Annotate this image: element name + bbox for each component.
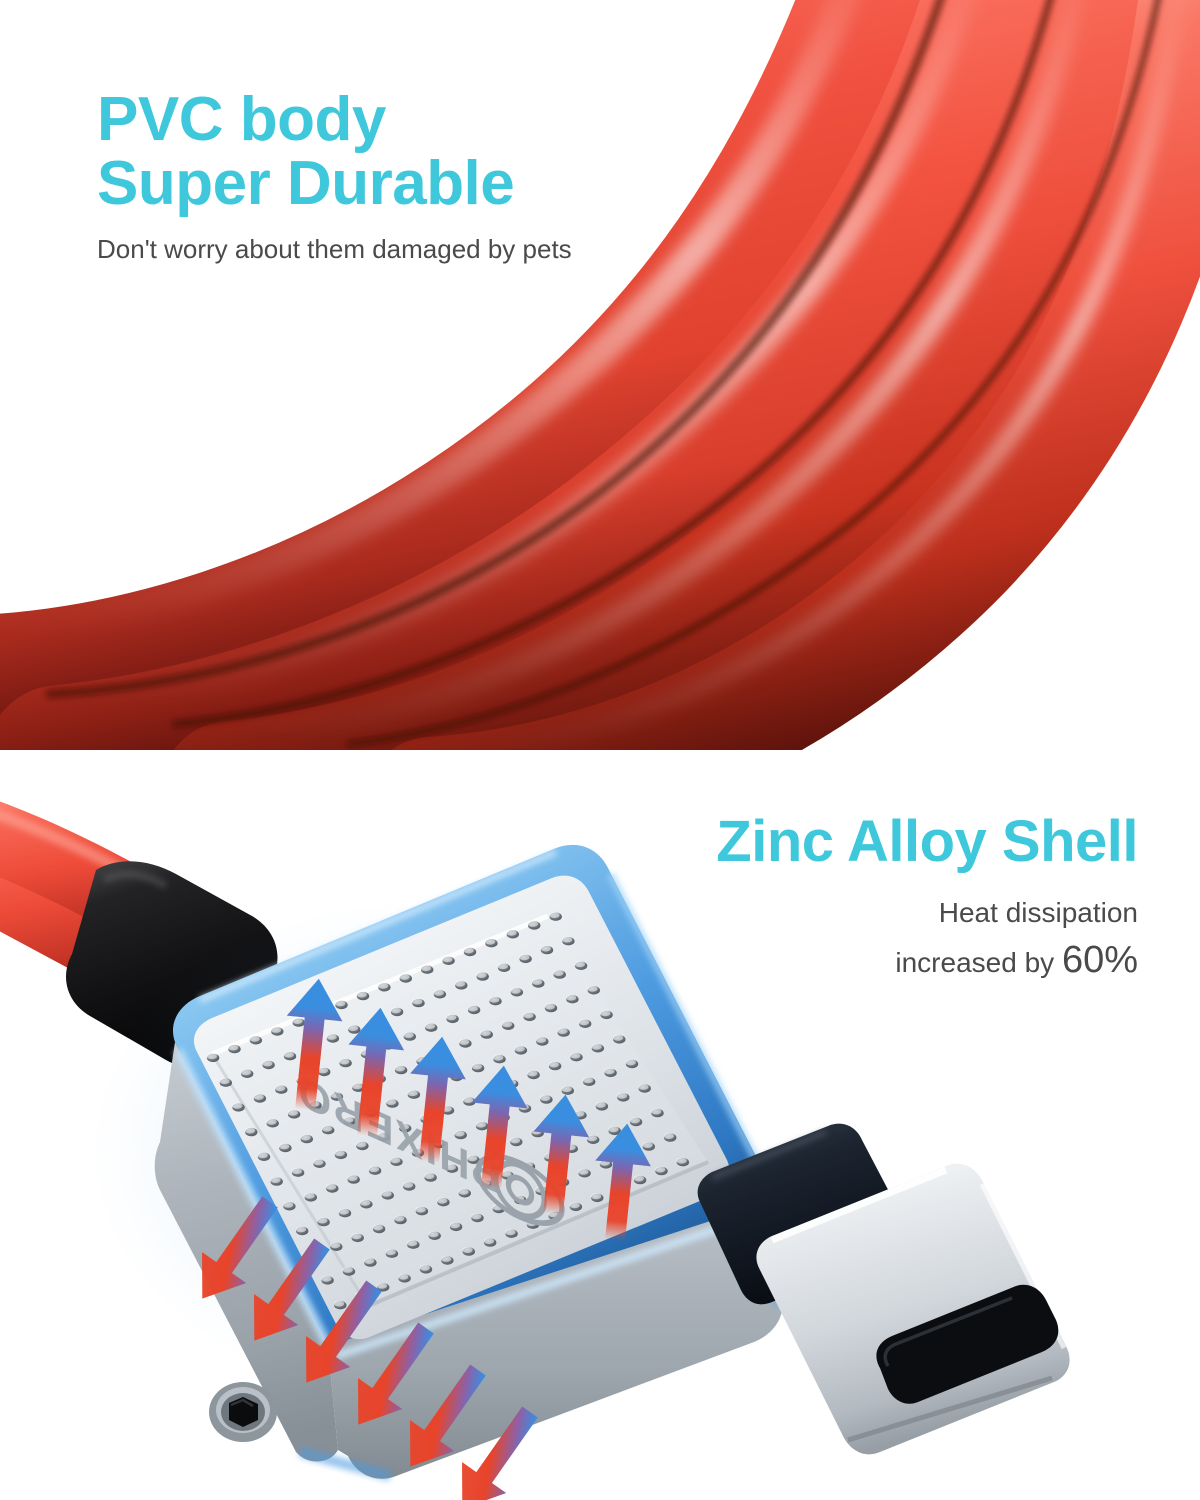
zinc-subtext-line-1: Heat dissipation: [518, 893, 1138, 934]
heat-increase-value: 60%: [1062, 939, 1138, 981]
zinc-subtext-prefix: increased by: [895, 947, 1062, 978]
headline-line-2: Super Durable: [97, 152, 737, 216]
pvc-headline-block: PVC body Super Durable Don't worry about…: [97, 88, 737, 267]
pvc-subtext: Don't worry about them damaged by pets: [97, 232, 667, 267]
zinc-subtext: Heat dissipation increased by 60%: [518, 893, 1138, 989]
usb-c-plug: [698, 1124, 1070, 1455]
hex-port-hole: [209, 1382, 277, 1442]
pvc-body-panel: PVC body Super Durable Don't worry about…: [0, 0, 1200, 750]
infographic-canvas: PVC body Super Durable Don't worry about…: [0, 0, 1200, 1500]
zinc-subtext-line-2: increased by 60%: [518, 933, 1138, 988]
zinc-headline-block: Zinc Alloy Shell Heat dissipation increa…: [518, 812, 1138, 989]
zinc-headline: Zinc Alloy Shell: [518, 812, 1138, 873]
headline-line-1: PVC body: [97, 88, 737, 152]
